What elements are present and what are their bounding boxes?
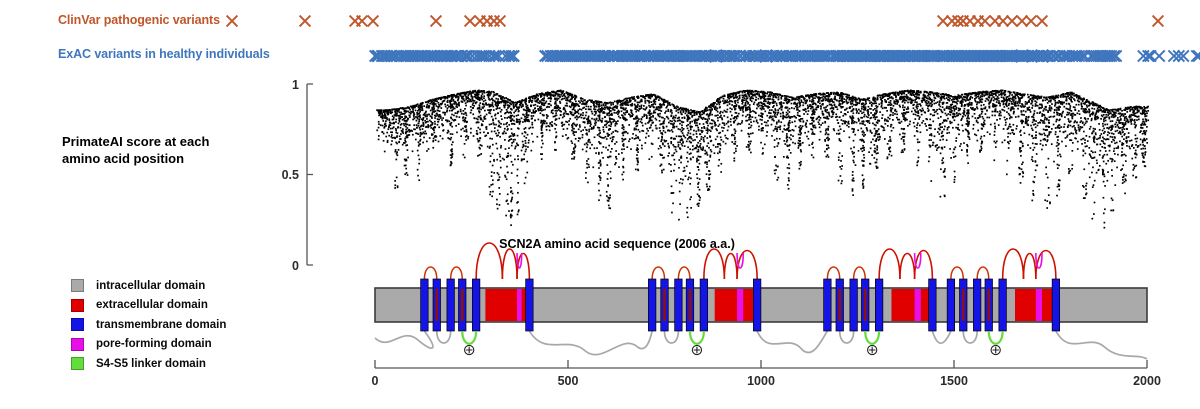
x-tick-0: 0 <box>372 374 379 388</box>
x-tick-1000: 1000 <box>747 374 775 388</box>
figure-root: ClinVar pathogenic variants ExAC variant… <box>0 0 1200 409</box>
x-tick-2000: 2000 <box>1133 374 1161 388</box>
x-tick-1500: 1500 <box>940 374 968 388</box>
x-tick-500: 500 <box>558 374 579 388</box>
x-axis: 0 500 1000 1500 2000 <box>0 0 1200 409</box>
